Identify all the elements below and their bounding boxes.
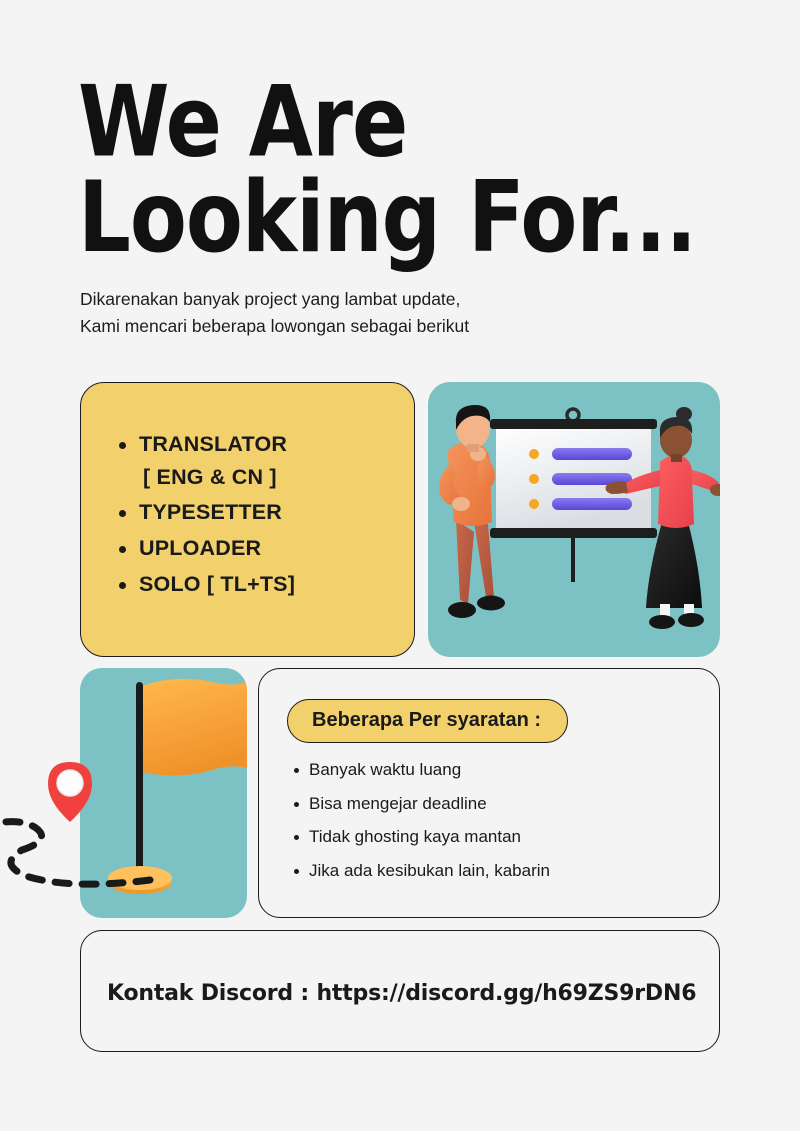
headline-line-1: We Are bbox=[78, 74, 728, 170]
board-bullet-dot bbox=[529, 449, 539, 459]
man-figure bbox=[439, 405, 505, 618]
list-item: UPLOADER bbox=[117, 537, 295, 561]
job-role-label: SOLO [ TL+TS] bbox=[139, 572, 295, 596]
subtitle-line-1: Dikarenakan banyak project yang lambat u… bbox=[80, 286, 680, 313]
requirements-list: Banyak waktu luang Bisa mengejar deadlin… bbox=[293, 761, 550, 896]
flag-cloth bbox=[142, 679, 247, 776]
requirements-card: Beberapa Per syaratan : Banyak waktu lua… bbox=[258, 668, 720, 918]
poster: We Are Looking For... Dikarenakan banyak… bbox=[0, 0, 800, 1131]
flag-illustration bbox=[80, 668, 247, 918]
flag-illustration-card bbox=[80, 668, 247, 918]
subtitle-line-2: Kami mencari beberapa lowongan sebagai b… bbox=[80, 313, 680, 340]
page-title: We Are Looking For... bbox=[78, 74, 728, 266]
discord-contact-link[interactable]: Kontak Discord : https://discord.gg/h69Z… bbox=[107, 981, 696, 1006]
list-item: SOLO [ TL+TS] bbox=[117, 573, 295, 597]
requirements-heading: Beberapa Per syaratan : bbox=[287, 699, 568, 743]
board-bullet-dot bbox=[529, 499, 539, 509]
list-item: Jika ada kesibukan lain, kabarin bbox=[293, 862, 550, 881]
job-role-sublabel: [ ENG & CN ] bbox=[143, 466, 295, 490]
board-bullet-dot bbox=[529, 474, 539, 484]
subtitle: Dikarenakan banyak project yang lambat u… bbox=[80, 286, 680, 340]
job-role-label: UPLOADER bbox=[139, 536, 261, 560]
list-item: Banyak waktu luang bbox=[293, 761, 550, 780]
list-item: TYPESETTER bbox=[117, 501, 295, 525]
presentation-illustration bbox=[428, 382, 720, 657]
headline-line-2: Looking For... bbox=[78, 170, 728, 266]
board-bullet-bar bbox=[552, 498, 632, 510]
job-role-label: TRANSLATOR bbox=[139, 432, 287, 456]
contact-card: Kontak Discord : https://discord.gg/h69Z… bbox=[80, 930, 720, 1052]
flag-pole bbox=[136, 682, 143, 880]
list-item: Bisa mengejar deadline bbox=[293, 795, 550, 814]
job-roles-card: TRANSLATOR [ ENG & CN ] TYPESETTER UPLOA… bbox=[80, 382, 415, 657]
presentation-illustration-card bbox=[428, 382, 720, 657]
job-role-label: TYPESETTER bbox=[139, 500, 282, 524]
list-item: TRANSLATOR [ ENG & CN ] bbox=[117, 433, 295, 489]
board-bullet-bar bbox=[552, 448, 632, 460]
job-roles-list: TRANSLATOR [ ENG & CN ] TYPESETTER UPLOA… bbox=[117, 433, 295, 608]
list-item: Tidak ghosting kaya mantan bbox=[293, 828, 550, 847]
